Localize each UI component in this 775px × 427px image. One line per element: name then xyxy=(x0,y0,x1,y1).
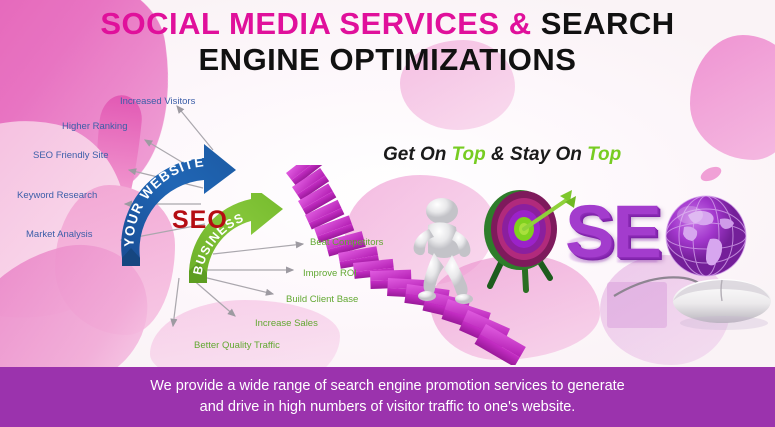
target-dartboard-icon xyxy=(468,186,578,298)
website-label-higher-ranking: Higher Ranking xyxy=(62,121,127,132)
caption-text: We provide a wide range of search engine… xyxy=(150,376,624,418)
seo-3d-text: SE xyxy=(565,195,660,269)
ascending-stairs-icon xyxy=(280,165,570,365)
business-label-better-quality-traffic: Better Quality Traffic xyxy=(194,340,280,351)
tagline-part-2: & Stay On xyxy=(486,144,587,165)
paint-splash-right-block xyxy=(607,282,667,328)
paint-splash-left-2 xyxy=(0,100,148,339)
paint-splash-dot xyxy=(698,164,723,184)
business-label-build-client-base: Build Client Base xyxy=(286,294,358,305)
business-label-increase-sales: Increase Sales xyxy=(255,318,318,329)
caption-line-1: We provide a wide range of search engine… xyxy=(150,378,624,394)
paint-splash-left-4 xyxy=(55,185,175,335)
website-label-keyword-research: Keyword Research xyxy=(17,190,97,201)
website-label-market-analysis: Market Analysis xyxy=(26,229,93,240)
website-label-seo-friendly-site: SEO Friendly Site xyxy=(33,150,109,161)
your-website-arrow: YOUR WEBSITE xyxy=(112,140,242,270)
globe-icon xyxy=(664,193,750,279)
headline-line-2: ENGINE OPTIMIZATIONS xyxy=(0,42,775,78)
caption-bar: We provide a wide range of search engine… xyxy=(0,367,775,427)
headline-pink-text: SOCIAL MEDIA SERVICES & xyxy=(100,6,531,41)
tagline-part-1: Get On xyxy=(383,144,452,165)
seo-banner: SOCIAL MEDIA SERVICES & SEARCH ENGINE OP… xyxy=(0,0,775,427)
website-label-increased-visitors: Increased Visitors xyxy=(120,96,195,107)
paint-splash-left-drip xyxy=(88,93,144,237)
paint-splash-mid-2 xyxy=(345,175,495,285)
page-title: SOCIAL MEDIA SERVICES & SEARCH ENGINE OP… xyxy=(0,6,775,78)
business-connector-lines xyxy=(95,230,325,350)
tagline-top-1: Top xyxy=(452,144,486,165)
seo-center-label: SEO xyxy=(172,206,228,235)
caption-line-2: and drive in high numbers of visitor tra… xyxy=(200,399,576,415)
business-label-beat-competitors: Beat Competitors xyxy=(310,237,383,248)
running-person-icon xyxy=(398,195,490,315)
business-label-improve-roi: Improve ROI xyxy=(303,268,357,279)
tagline-top-2: Top xyxy=(587,144,621,165)
headline-line-1: SOCIAL MEDIA SERVICES & SEARCH xyxy=(0,6,775,42)
tagline: Get On Top & Stay On Top xyxy=(383,144,621,166)
headline-dark-text: SEARCH xyxy=(532,6,675,41)
computer-mouse-icon xyxy=(610,268,775,343)
